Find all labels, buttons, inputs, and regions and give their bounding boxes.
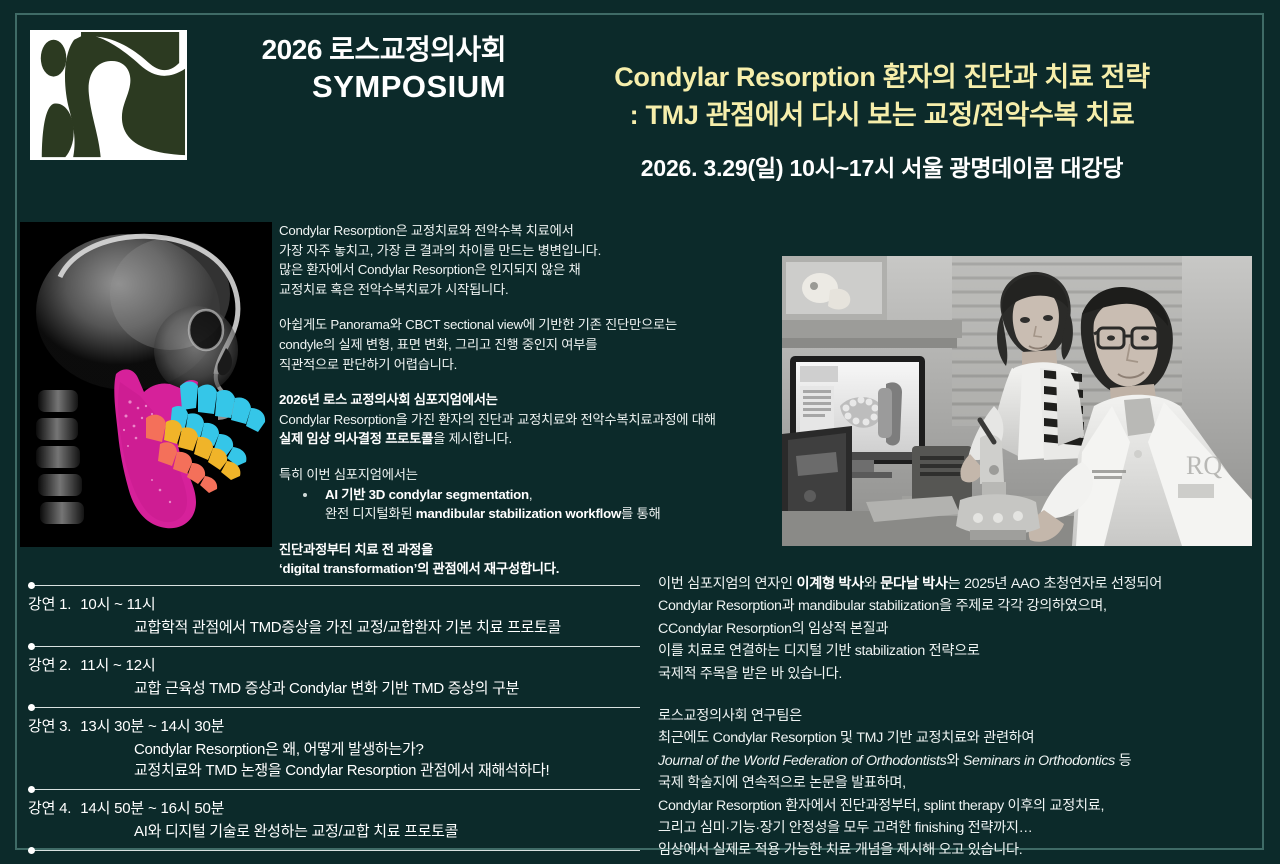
intro-paragraph-1: Condylar Resorption은 교정치료와 전악수복 치료에서 가장 …: [279, 221, 779, 299]
intro-p5-line1: 진단과정부터 치료 전 과정을: [279, 542, 433, 557]
poster-title-block: Condylar Resorption 환자의 진단과 치료 전략 : TMJ …: [512, 58, 1252, 183]
schedule-item-2-title: 교합 근육성 TMD 증상과 Condylar 변화 기반 TMD 증상의 구분: [28, 678, 640, 699]
title-subtitle: : TMJ 관점에서 다시 보는 교정/전악수복 치료: [512, 96, 1252, 134]
schedule-item-3: 강연 3.13시 30분 ~ 14시 30분 Condylar Resorpti…: [28, 708, 640, 789]
intro-p5-line2-tail: 의 관점에서 재구성합니다.: [417, 561, 559, 576]
clinicians-at-workstation-illustration: RQ: [782, 256, 1252, 546]
divider-dot-icon: [28, 582, 35, 589]
schedule-item-4-title: AI와 디지털 기술로 완성하는 교정/교합 치료 프로토콜: [28, 821, 640, 842]
intro-bullet-line2-head: 완전 디지털화된: [325, 506, 416, 521]
journal-name-2: Seminars in Orthodontics: [963, 753, 1115, 769]
ros-abstract-mark-icon: [30, 30, 187, 160]
speakers-p1-line5: 국제적 주목을 받은 바 있습니다.: [658, 666, 842, 682]
schedule-item-4-number: 강연 4.: [28, 800, 71, 817]
speakers-p1-line4: 이를 치료로 연결하는 디지털 기반 stabilization 전략으로: [658, 643, 980, 659]
speakers-p2-line6: 그리고 심미·기능·장기 안정성을 모두 고려한 finishing 전략까지…: [658, 820, 1033, 836]
brand-line-symposium: SYMPOSIUM: [196, 67, 506, 107]
schedule-item-3-time: 13시 30분 ~ 14시 30분: [80, 718, 224, 735]
intro-p5-line2-bold: ‘digital transformation’: [279, 561, 417, 576]
speakers-p1-conj: 와: [864, 576, 880, 592]
intro-paragraph-4: 특히 이번 심포지엄에서는 AI 기반 3D condylar segmenta…: [279, 465, 779, 524]
intro-bullet-line2-bold: mandibular stabilization workflow: [416, 506, 621, 521]
schedule-divider: [28, 585, 640, 586]
speakers-p2-line3-mid: 와: [946, 753, 962, 769]
intro-p1-line4: 교정치료 혹은 전악수복치료가 시작됩니다.: [279, 282, 508, 297]
brand-line-korean: 2026 로스교정의사회: [196, 32, 506, 67]
intro-p2-line3: 직관적으로 판단하기 어렵습니다.: [279, 357, 457, 372]
intro-bullet-item: AI 기반 3D condylar segmentation, 완전 디지털화된…: [279, 485, 779, 524]
intro-paragraph-3: 2026년 로스 교정의사회 심포지엄에서는 Condylar Resorpti…: [279, 390, 779, 449]
speaker-name-1: 이계형 박사: [796, 576, 863, 592]
intro-p3-line1: 2026년 로스 교정의사회 심포지엄에서는: [279, 392, 498, 407]
schedule-item-1: 강연 1.10시 ~ 11시 교합학적 관점에서 TMD증상을 가진 교정/교합…: [28, 586, 640, 646]
date-and-venue: 2026. 3.29(일) 10시~17시 서울 광명데이콤 대강당: [512, 149, 1252, 183]
schedule-divider: [28, 789, 640, 790]
ros-logo: [27, 27, 190, 163]
schedule-divider: [28, 707, 640, 708]
intro-bullet-line1-bold: AI 기반 3D condylar segmentation: [325, 487, 529, 502]
skull-segmentation-illustration: [20, 222, 272, 547]
schedule-item-2-time: 11시 ~ 12시: [80, 657, 155, 674]
speakers-p2-line5: Condylar Resorption 환자에서 진단과정부터, splint …: [658, 798, 1104, 814]
schedule-item-4: 강연 4.14시 50분 ~ 16시 50분 AI와 디지털 기술로 완성하는 …: [28, 790, 640, 850]
schedule-item-3-head: 강연 3.13시 30분 ~ 14시 30분: [28, 715, 640, 736]
speakers-paragraph-1: 이번 심포지엄의 연자인 이계형 박사와 문다날 박사는 2025년 AAO 초…: [658, 573, 1248, 685]
schedule-item-2: 강연 2.11시 ~ 12시 교합 근육성 TMD 증상과 Condylar 변…: [28, 647, 640, 707]
schedule-item-1-time: 10시 ~ 11시: [80, 596, 155, 613]
speakers-p1-suffix: 는 2025년 AAO 초청연자로 선정되어: [948, 576, 1162, 592]
journal-name-1: Journal of the World Federation of Ortho…: [658, 753, 946, 769]
intro-copy: Condylar Resorption은 교정치료와 전악수복 치료에서 가장 …: [279, 221, 779, 579]
schedule-item-3-title-line1: Condylar Resorption은 왜, 어떻게 발생하는가?: [28, 739, 640, 760]
intro-p4-line1: 특히 이번 심포지엄에서는: [279, 467, 418, 482]
intro-p3-line2: Condylar Resorption을 가진 환자의 진단과 교정치료와 전악…: [279, 412, 716, 427]
schedule-item-4-head: 강연 4.14시 50분 ~ 16시 50분: [28, 797, 640, 818]
schedule-item-3-title-line2: 교정치료와 TMD 논쟁을 Condylar Resorption 관점에서 재…: [28, 760, 640, 781]
symposium-poster: 2026 로스교정의사회 SYMPOSIUM Condylar Resorpti…: [0, 0, 1280, 864]
intro-bullet-line1-tail: ,: [529, 487, 532, 502]
speakers-p1-prefix: 이번 심포지엄의 연자인: [658, 576, 796, 592]
divider-dot-icon: [28, 786, 35, 793]
speakers-p1-line3: CCondylar Resorption의 임상적 본질과: [658, 621, 888, 637]
schedule-item-3-number: 강연 3.: [28, 718, 71, 735]
schedule-divider: [28, 850, 640, 851]
intro-p3-line3-tail: 을 제시합니다.: [433, 431, 512, 446]
schedule-item-4-time: 14시 50분 ~ 16시 50분: [80, 800, 224, 817]
speakers-p2-line1: 로스교정의사회 연구팀은: [658, 708, 802, 724]
intro-p2-line2: condyle의 실제 변형, 표면 변화, 그리고 진행 중인지 여부를: [279, 337, 597, 352]
speaker-credentials-copy: 이번 심포지엄의 연자인 이계형 박사와 문다날 박사는 2025년 AAO 초…: [658, 573, 1248, 862]
schedule-item-1-title: 교합학적 관점에서 TMD증상을 가진 교정/교합환자 기본 치료 프로토콜: [28, 617, 640, 638]
intro-p2-line1: 아쉽게도 Panorama와 CBCT sectional view에 기반한 …: [279, 317, 677, 332]
divider-dot-icon: [28, 704, 35, 711]
intro-p1-line3: 많은 환자에서 Condylar Resorption은 인지되지 않은 채: [279, 262, 580, 277]
intro-paragraph-2: 아쉽게도 Panorama와 CBCT sectional view에 기반한 …: [279, 315, 779, 374]
intro-p1-line2: 가장 자주 놓치고, 가장 큰 결과의 차이를 만드는 병변입니다.: [279, 243, 601, 258]
schedule-divider: [28, 646, 640, 647]
lecture-schedule: 강연 1.10시 ~ 11시 교합학적 관점에서 TMD증상을 가진 교정/교합…: [28, 585, 640, 851]
speaker-name-2: 문다날 박사: [880, 576, 947, 592]
intro-p3-line3-bold: 실제 임상 의사결정 프로토콜: [279, 431, 433, 446]
speakers-p2-line3-tail: 등: [1115, 753, 1131, 769]
schedule-item-2-head: 강연 2.11시 ~ 12시: [28, 654, 640, 675]
speakers-p2-line4: 국제 학술지에 연속적으로 논문을 발표하며,: [658, 775, 906, 791]
schedule-item-1-head: 강연 1.10시 ~ 11시: [28, 593, 640, 614]
schedule-item-1-number: 강연 1.: [28, 596, 71, 613]
divider-dot-icon: [28, 643, 35, 650]
bullet-dot-icon: [303, 493, 307, 497]
schedule-item-2-number: 강연 2.: [28, 657, 71, 674]
intro-p1-line1: Condylar Resorption은 교정치료와 전악수복 치료에서: [279, 223, 574, 238]
divider-dot-icon: [28, 847, 35, 854]
brand-block: 2026 로스교정의사회 SYMPOSIUM: [196, 32, 506, 107]
speakers-p1-line2: Condylar Resorption과 mandibular stabiliz…: [658, 598, 1107, 614]
intro-bullet-line2-tail: 를 통해: [621, 506, 660, 521]
speakers-paragraph-2: 로스교정의사회 연구팀은 최근에도 Condylar Resorption 및 …: [658, 705, 1248, 862]
speakers-p2-line7: 임상에서 실제로 적용 가능한 치료 개념을 제시해 오고 있습니다.: [658, 842, 1022, 858]
svg-text:RQ: RQ: [1186, 451, 1222, 480]
speakers-p2-line2: 최근에도 Condylar Resorption 및 TMJ 기반 교정치료와 …: [658, 730, 1034, 746]
title-main: Condylar Resorption 환자의 진단과 치료 전략: [512, 58, 1252, 96]
clinic-team-photo: RQ: [782, 256, 1252, 546]
cephalometric-xray-image: [20, 222, 272, 547]
